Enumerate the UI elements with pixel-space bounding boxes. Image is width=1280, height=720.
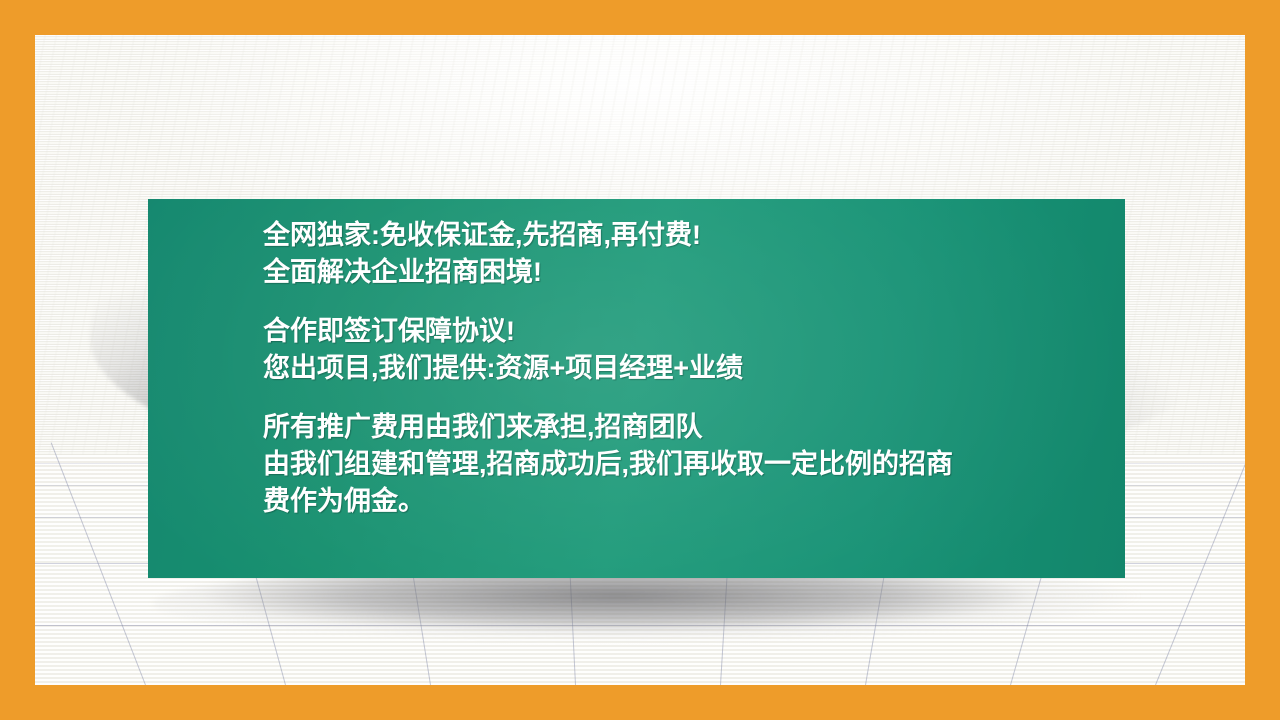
paragraph-1: 全网独家:免收保证金,先招商,再付费! 全面解决企业招商困境! <box>263 217 1125 291</box>
slide-canvas: 全网独家:免收保证金,先招商,再付费! 全面解决企业招商困境! 合作即签订保障协… <box>0 0 1280 720</box>
floor-seam-diagonal <box>1155 444 1245 685</box>
panel-line: 费作为佣金。 <box>263 483 1125 520</box>
panel-line: 全网独家:免收保证金,先招商,再付费! <box>263 217 1125 254</box>
paragraph-2: 合作即签订保障协议! 您出项目,我们提供:资源+项目经理+业绩 <box>263 313 1125 387</box>
floor-seam-horizontal <box>35 625 1245 626</box>
panel-line: 您出项目,我们提供:资源+项目经理+业绩 <box>263 350 1125 387</box>
panel-line: 由我们组建和管理,招商成功后,我们再收取一定比例的招商 <box>263 446 1125 483</box>
panel-line: 所有推广费用由我们来承担,招商团队 <box>263 409 1125 446</box>
paragraph-3: 所有推广费用由我们来承担,招商团队 由我们组建和管理,招商成功后,我们再收取一定… <box>263 409 1125 520</box>
paragraph-spacer <box>263 291 1125 313</box>
paragraph-spacer <box>263 387 1125 409</box>
panel-line: 合作即签订保障协议! <box>263 313 1125 350</box>
panel-line: 全面解决企业招商困境! <box>263 254 1125 291</box>
green-message-panel: 全网独家:免收保证金,先招商,再付费! 全面解决企业招商困境! 合作即签订保障协… <box>148 199 1125 578</box>
